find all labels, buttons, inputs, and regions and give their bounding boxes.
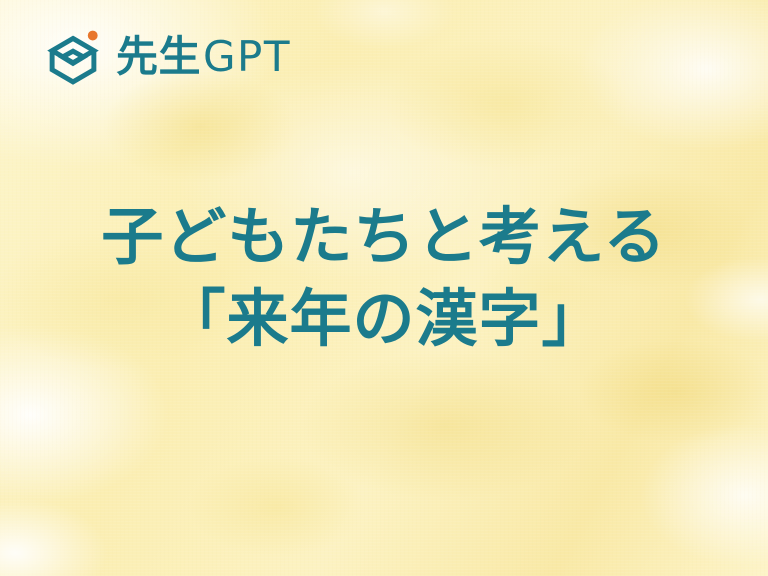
graduation-cap-hexagon-icon bbox=[44, 28, 102, 86]
headline-line-2: 「来年の漢字」 bbox=[0, 278, 768, 360]
brand-name-jp: 先生 bbox=[116, 36, 201, 78]
brand-name: 先生 GPT bbox=[116, 36, 291, 78]
slide-canvas: 先生 GPT 子どもたちと考える 「来年の漢字」 bbox=[0, 0, 768, 576]
brand-name-en: GPT bbox=[203, 36, 291, 78]
headline-line-1: 子どもたちと考える bbox=[0, 196, 768, 278]
headline: 子どもたちと考える 「来年の漢字」 bbox=[0, 196, 768, 360]
brand-logo[interactable]: 先生 GPT bbox=[44, 28, 291, 86]
accent-dot-icon bbox=[88, 31, 98, 41]
